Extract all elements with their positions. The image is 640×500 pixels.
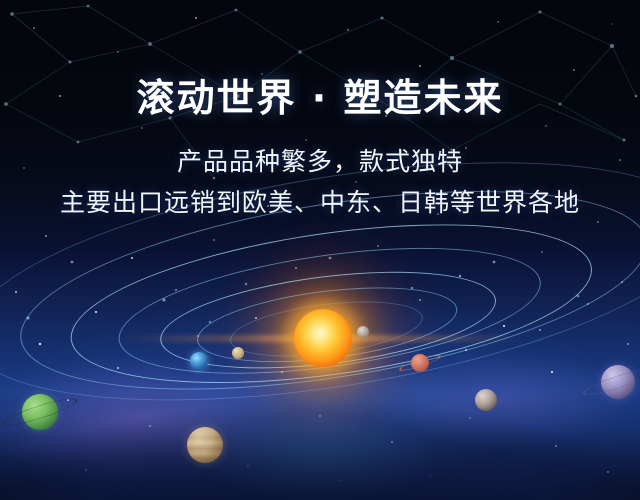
planet-ring: [581, 365, 640, 399]
planet-red-ringed: [411, 354, 429, 372]
banner-copy: 滚动世界 · 塑造未来 产品品种繁多，款式独特 主要出口远销到欧美、中东、日韩等…: [0, 0, 640, 222]
planet-earth: [190, 352, 208, 370]
planet-ring: [1, 394, 79, 430]
subtitle-line-2: 主要出口远销到欧美、中东、日韩等世界各地: [0, 180, 640, 222]
planet-grey-small: [357, 326, 369, 338]
planet-green-ringed: [22, 394, 58, 430]
planet-grey-orbiting: [475, 389, 497, 411]
page-title: 滚动世界 · 塑造未来: [0, 0, 640, 121]
planet-beige-large: [187, 427, 223, 463]
planet-purple-ringed: [601, 365, 635, 399]
planet-tan-small: [232, 347, 244, 359]
space-hero-banner: 滚动世界 · 塑造未来 产品品种繁多，款式独特 主要出口远销到欧美、中东、日韩等…: [0, 0, 640, 500]
subtitle-line-1: 产品品种繁多，款式独特: [0, 121, 640, 181]
sun: [294, 309, 352, 367]
